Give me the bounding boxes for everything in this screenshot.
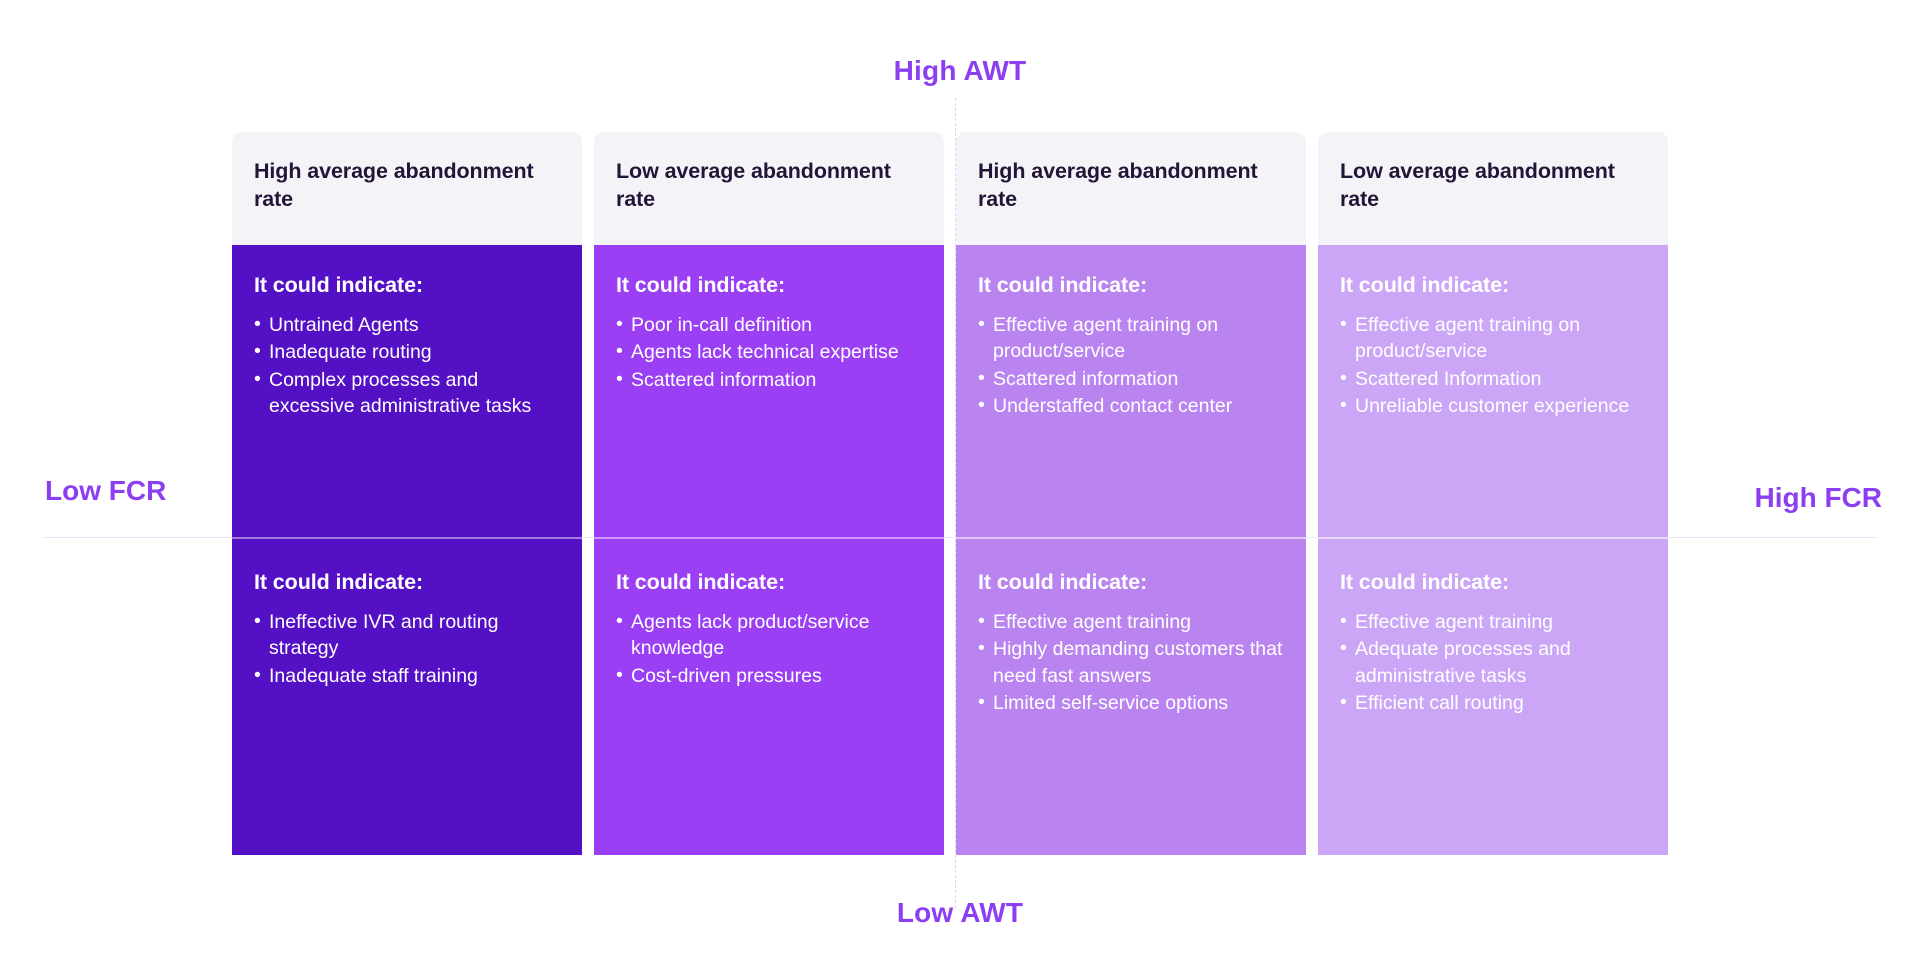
list-item: Inadequate staff training: [254, 663, 560, 689]
column-header-4: Low average abandonment rate: [1318, 132, 1668, 245]
list-item: Highly demanding customers that need fas…: [978, 636, 1284, 689]
cell-title: It could indicate:: [254, 273, 560, 298]
column-header-title: Low average abandonment rate: [616, 157, 922, 214]
cell-bullet-list: Effective agent training on product/serv…: [978, 312, 1284, 420]
quadrant-cell-top-4: It could indicate: Effective agent train…: [1318, 245, 1668, 537]
list-item: Effective agent training: [978, 609, 1284, 635]
axis-label-bottom: Low AWT: [0, 897, 1920, 929]
column-header-3: High average abandonment rate: [956, 132, 1306, 245]
quadrant-matrix-diagram: High AWT Low FCR High FCR Low AWT High a…: [0, 0, 1920, 977]
cell-title: It could indicate:: [978, 570, 1284, 595]
cell-title: It could indicate:: [616, 273, 922, 298]
cell-title: It could indicate:: [1340, 570, 1646, 595]
quadrant-column-4: Low average abandonment rate It could in…: [1318, 132, 1668, 855]
quadrant-cell-top-2: It could indicate: Poor in-call definiti…: [594, 245, 944, 537]
list-item: Understaffed contact center: [978, 393, 1284, 419]
list-item: Scattered information: [616, 367, 922, 393]
cell-bullet-list: Ineffective IVR and routing strategy Ina…: [254, 609, 560, 689]
cell-bullet-list: Poor in-call definition Agents lack tech…: [616, 312, 922, 393]
cell-bullet-list: Effective agent training Adequate proces…: [1340, 609, 1646, 717]
quadrant-columns: High average abandonment rate It could i…: [232, 132, 1688, 855]
list-item: Ineffective IVR and routing strategy: [254, 609, 560, 662]
cell-bullet-list: Effective agent training on product/serv…: [1340, 312, 1646, 420]
list-item: Effective agent training on product/serv…: [978, 312, 1284, 365]
cell-title: It could indicate:: [1340, 273, 1646, 298]
quadrant-column-2: Low average abandonment rate It could in…: [594, 132, 944, 855]
quadrant-cell-bottom-2: It could indicate: Agents lack product/s…: [594, 537, 944, 855]
quadrant-column-1: High average abandonment rate It could i…: [232, 132, 582, 855]
column-header-title: High average abandonment rate: [978, 157, 1284, 214]
list-item: Effective agent training: [1340, 609, 1646, 635]
quadrant-cell-top-1: It could indicate: Untrained Agents Inad…: [232, 245, 582, 537]
column-header-title: High average abandonment rate: [254, 157, 560, 214]
axis-label-right: High FCR: [1754, 482, 1882, 514]
cell-bullet-list: Effective agent training Highly demandin…: [978, 609, 1284, 717]
quadrant-cell-bottom-4: It could indicate: Effective agent train…: [1318, 537, 1668, 855]
column-header-title: Low average abandonment rate: [1340, 157, 1646, 214]
axis-label-top: High AWT: [0, 55, 1920, 87]
cell-bullet-list: Agents lack product/service knowledge Co…: [616, 609, 922, 689]
list-item: Scattered information: [978, 366, 1284, 392]
quadrant-cell-bottom-1: It could indicate: Ineffective IVR and r…: [232, 537, 582, 855]
cell-title: It could indicate:: [616, 570, 922, 595]
column-header-2: Low average abandonment rate: [594, 132, 944, 245]
axis-label-left: Low FCR: [45, 475, 166, 507]
list-item: Agents lack technical expertise: [616, 339, 922, 365]
list-item: Effective agent training on product/serv…: [1340, 312, 1646, 365]
quadrant-cell-bottom-3: It could indicate: Effective agent train…: [956, 537, 1306, 855]
list-item: Poor in-call definition: [616, 312, 922, 338]
cell-title: It could indicate:: [978, 273, 1284, 298]
list-item: Cost-driven pressures: [616, 663, 922, 689]
column-header-1: High average abandonment rate: [232, 132, 582, 245]
list-item: Efficient call routing: [1340, 690, 1646, 716]
list-item: Complex processes and excessive administ…: [254, 367, 560, 420]
list-item: Agents lack product/service knowledge: [616, 609, 922, 662]
list-item: Unreliable customer experience: [1340, 393, 1646, 419]
list-item: Inadequate routing: [254, 339, 560, 365]
cell-bullet-list: Untrained Agents Inadequate routing Comp…: [254, 312, 560, 420]
list-item: Untrained Agents: [254, 312, 560, 338]
cell-title: It could indicate:: [254, 570, 560, 595]
quadrant-column-3: High average abandonment rate It could i…: [956, 132, 1306, 855]
list-item: Limited self-service options: [978, 690, 1284, 716]
list-item: Adequate processes and administrative ta…: [1340, 636, 1646, 689]
list-item: Scattered Information: [1340, 366, 1646, 392]
quadrant-cell-top-3: It could indicate: Effective agent train…: [956, 245, 1306, 537]
